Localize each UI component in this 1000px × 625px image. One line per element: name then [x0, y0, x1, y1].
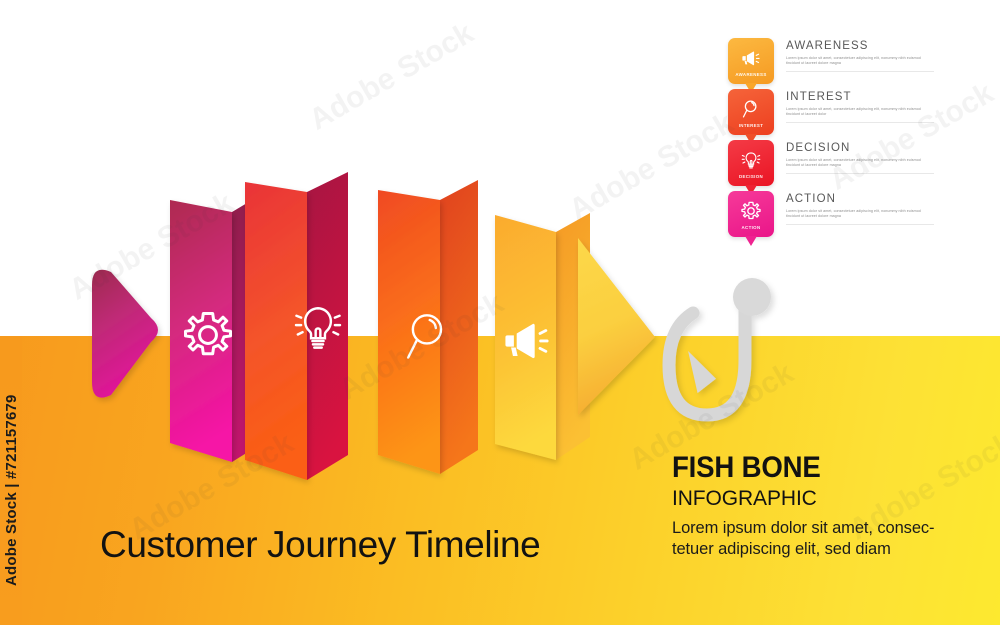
marker-underline	[786, 71, 934, 72]
pin-decision[interactable]: DECISION	[728, 140, 774, 186]
marker-row-awareness[interactable]: AWARENESS AWARENESS Lorem ipsum dolor si…	[728, 38, 993, 89]
marker-row-interest[interactable]: INTEREST INTEREST Lorem ipsum dolor sit …	[728, 89, 993, 140]
pin-label: ACTION	[742, 225, 761, 230]
pin-label: INTEREST	[739, 123, 764, 128]
infographic-canvas: AWARENESS AWARENESS Lorem ipsum dolor si…	[0, 0, 1000, 625]
gear-icon	[738, 199, 764, 223]
magnifier-icon	[738, 97, 764, 121]
marker-desc: Lorem ipsum dolor sit amet, consectetuer…	[786, 209, 936, 219]
marker-underline	[786, 173, 934, 174]
marker-desc: Lorem ipsum dolor sit amet, consectetuer…	[786, 107, 936, 117]
stage-marker-list: AWARENESS AWARENESS Lorem ipsum dolor si…	[728, 38, 993, 242]
brand-title: FISH BONE	[672, 452, 966, 484]
pin-action[interactable]: ACTION	[728, 191, 774, 237]
brand-body: Lorem ipsum dolor sit amet, consec-tetue…	[672, 518, 962, 560]
marker-desc: Lorem ipsum dolor sit amet, consectetuer…	[786, 56, 936, 66]
pin-label: AWARENESS	[735, 72, 766, 77]
marker-title: INTEREST	[786, 91, 986, 104]
marker-underline	[786, 122, 934, 123]
pin-awareness[interactable]: AWARENESS	[728, 38, 774, 84]
megaphone-icon	[738, 46, 764, 70]
pin-label: DECISION	[739, 174, 763, 179]
page-title: Customer Journey Timeline	[100, 524, 660, 566]
marker-row-decision[interactable]: DECISION DECISION Lorem ipsum dolor sit …	[728, 140, 993, 191]
pin-interest[interactable]: INTEREST	[728, 89, 774, 135]
stock-watermark-label: Adobe Stock | #721157679	[0, 300, 22, 590]
marker-row-action[interactable]: ACTION ACTION Lorem ipsum dolor sit amet…	[728, 191, 993, 242]
marker-title: AWARENESS	[786, 40, 986, 53]
marker-underline	[786, 224, 934, 225]
lightbulb-icon	[738, 148, 764, 172]
marker-title: DECISION	[786, 142, 986, 155]
brand-subtitle: INFOGRAPHIC	[672, 486, 992, 511]
marker-title: ACTION	[786, 193, 986, 206]
marker-desc: Lorem ipsum dolor sit amet, consectetuer…	[786, 158, 936, 168]
brand-block: FISH BONE INFOGRAPHIC Lorem ipsum dolor …	[672, 452, 992, 560]
